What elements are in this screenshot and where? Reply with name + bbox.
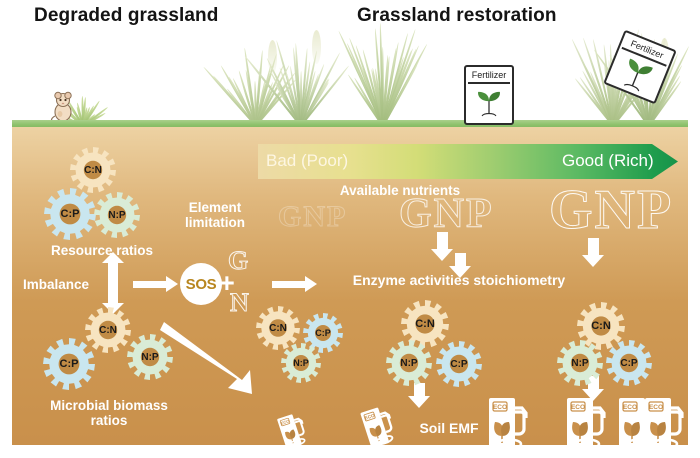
sprout-icon	[474, 87, 505, 120]
seed-head	[312, 30, 321, 64]
gnp-low-letters: GNP	[278, 200, 347, 234]
gear-cp: C:P	[436, 341, 482, 387]
sos-badge: SOS	[180, 263, 222, 305]
gear-shape	[436, 341, 482, 387]
grass-tuft	[300, 38, 302, 126]
letter-g-icon: G	[228, 246, 250, 276]
gear-shape	[386, 340, 432, 386]
caption-imbalance: Imbalance	[10, 277, 102, 292]
gear-cp: C:P	[43, 338, 95, 390]
arrow-down-to-enzyme-label	[455, 253, 466, 267]
gear-shape	[281, 343, 321, 383]
gradient-label-bad: Bad (Poor)	[266, 151, 348, 171]
figure-canvas: Degraded grassland Grassland restoration…	[0, 0, 700, 458]
microbial-line1: Microbial biomass	[50, 398, 168, 413]
heading-grassland-restoration: Grassland restoration	[357, 5, 557, 27]
seed-head	[268, 40, 277, 74]
gear-np: N:P	[557, 340, 603, 386]
gear-shape	[43, 338, 95, 390]
gear-cn: C:N	[70, 147, 116, 193]
microbial-line2: ratios	[91, 413, 128, 428]
gear-np: N:P	[386, 340, 432, 386]
caption-microbial-biomass-ratios: Microbial biomass ratios	[14, 398, 204, 428]
eco-pump-6: ECO	[643, 396, 687, 455]
caption-soil-emf: Soil EMF	[403, 421, 495, 437]
gear-shape	[557, 340, 603, 386]
gear-shape	[44, 188, 96, 240]
grass-tuft	[255, 50, 257, 126]
arrow-diagonal-to-enzyme	[160, 318, 268, 398]
fertilizer-bag-label: Fertilizer	[469, 69, 509, 82]
eco-fuel-pump-icon: ECO	[565, 396, 609, 450]
gear-np: N:P	[127, 334, 173, 380]
caption-element-limitation: Element limitation	[172, 200, 258, 230]
grass-tuft	[382, 26, 384, 126]
gear-cp: C:P	[44, 188, 96, 240]
gear-np: N:P	[94, 192, 140, 238]
eco-pump-label: ECO	[493, 404, 507, 411]
arrow-imbalance-to-sos	[133, 281, 167, 288]
gear-shape	[70, 147, 116, 193]
fertilizer-bag-icon: Fertilizer	[464, 65, 514, 125]
arrow-sos-to-enzyme	[272, 281, 306, 288]
eco-pump-label: ECO	[571, 404, 585, 411]
letter-n-icon: N	[230, 288, 251, 318]
gradient-label-good: Good (Rich)	[562, 151, 654, 171]
rodent-icon	[50, 90, 76, 122]
gear-cp: C:P	[606, 340, 652, 386]
gear-shape	[94, 192, 140, 238]
eco-pump-label: ECO	[649, 404, 663, 411]
gear-shape	[127, 334, 173, 380]
double-arrow-vertical	[108, 262, 118, 304]
gear-shape	[606, 340, 652, 386]
eco-fuel-pump-icon: ECO	[643, 396, 687, 450]
eco-pump-label: ECO	[623, 404, 637, 411]
element-limitation-line1: Element	[189, 200, 242, 215]
element-limitation-line2: limitation	[185, 215, 245, 230]
gear-np: N:P	[281, 343, 321, 383]
gnp-mid-letters: GNP	[399, 190, 494, 238]
heading-degraded-grassland: Degraded grassland	[34, 5, 218, 27]
eco-fuel-pump-icon: ECO	[487, 396, 531, 450]
eco-pump-4: ECO	[565, 396, 609, 455]
eco-pump-3: ECO	[487, 396, 531, 455]
gnp-high-letters: GNP	[549, 178, 673, 242]
